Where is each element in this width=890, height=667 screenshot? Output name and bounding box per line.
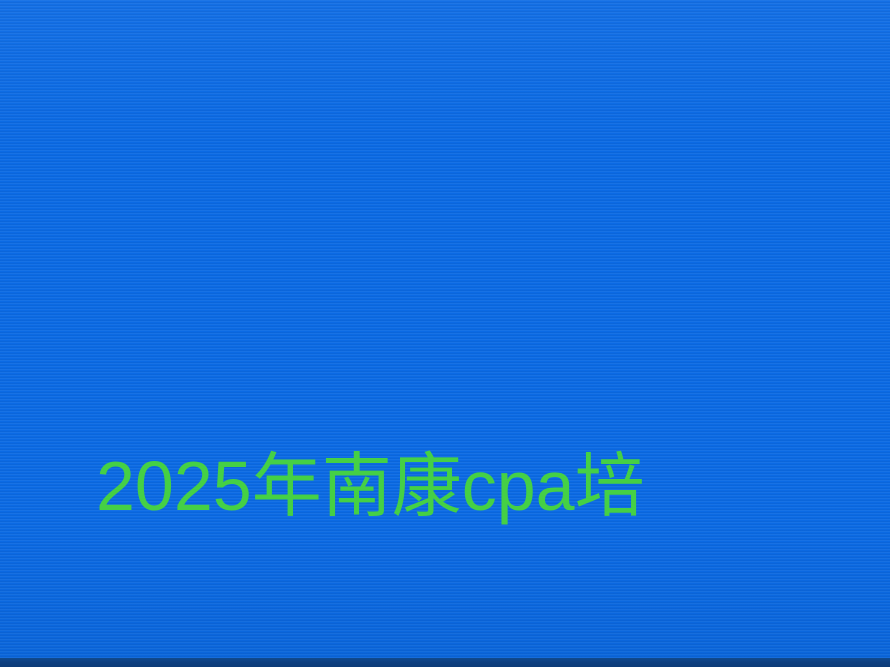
headline-text: 2025年南康cpa培 训班费用多少推荐一览: [96, 236, 836, 667]
headline-line-1: 2025年南康cpa培: [96, 436, 836, 536]
bottom-edge-band: [0, 658, 890, 667]
poster-canvas: 2025年南康cpa培 训班费用多少推荐一览: [0, 0, 890, 667]
